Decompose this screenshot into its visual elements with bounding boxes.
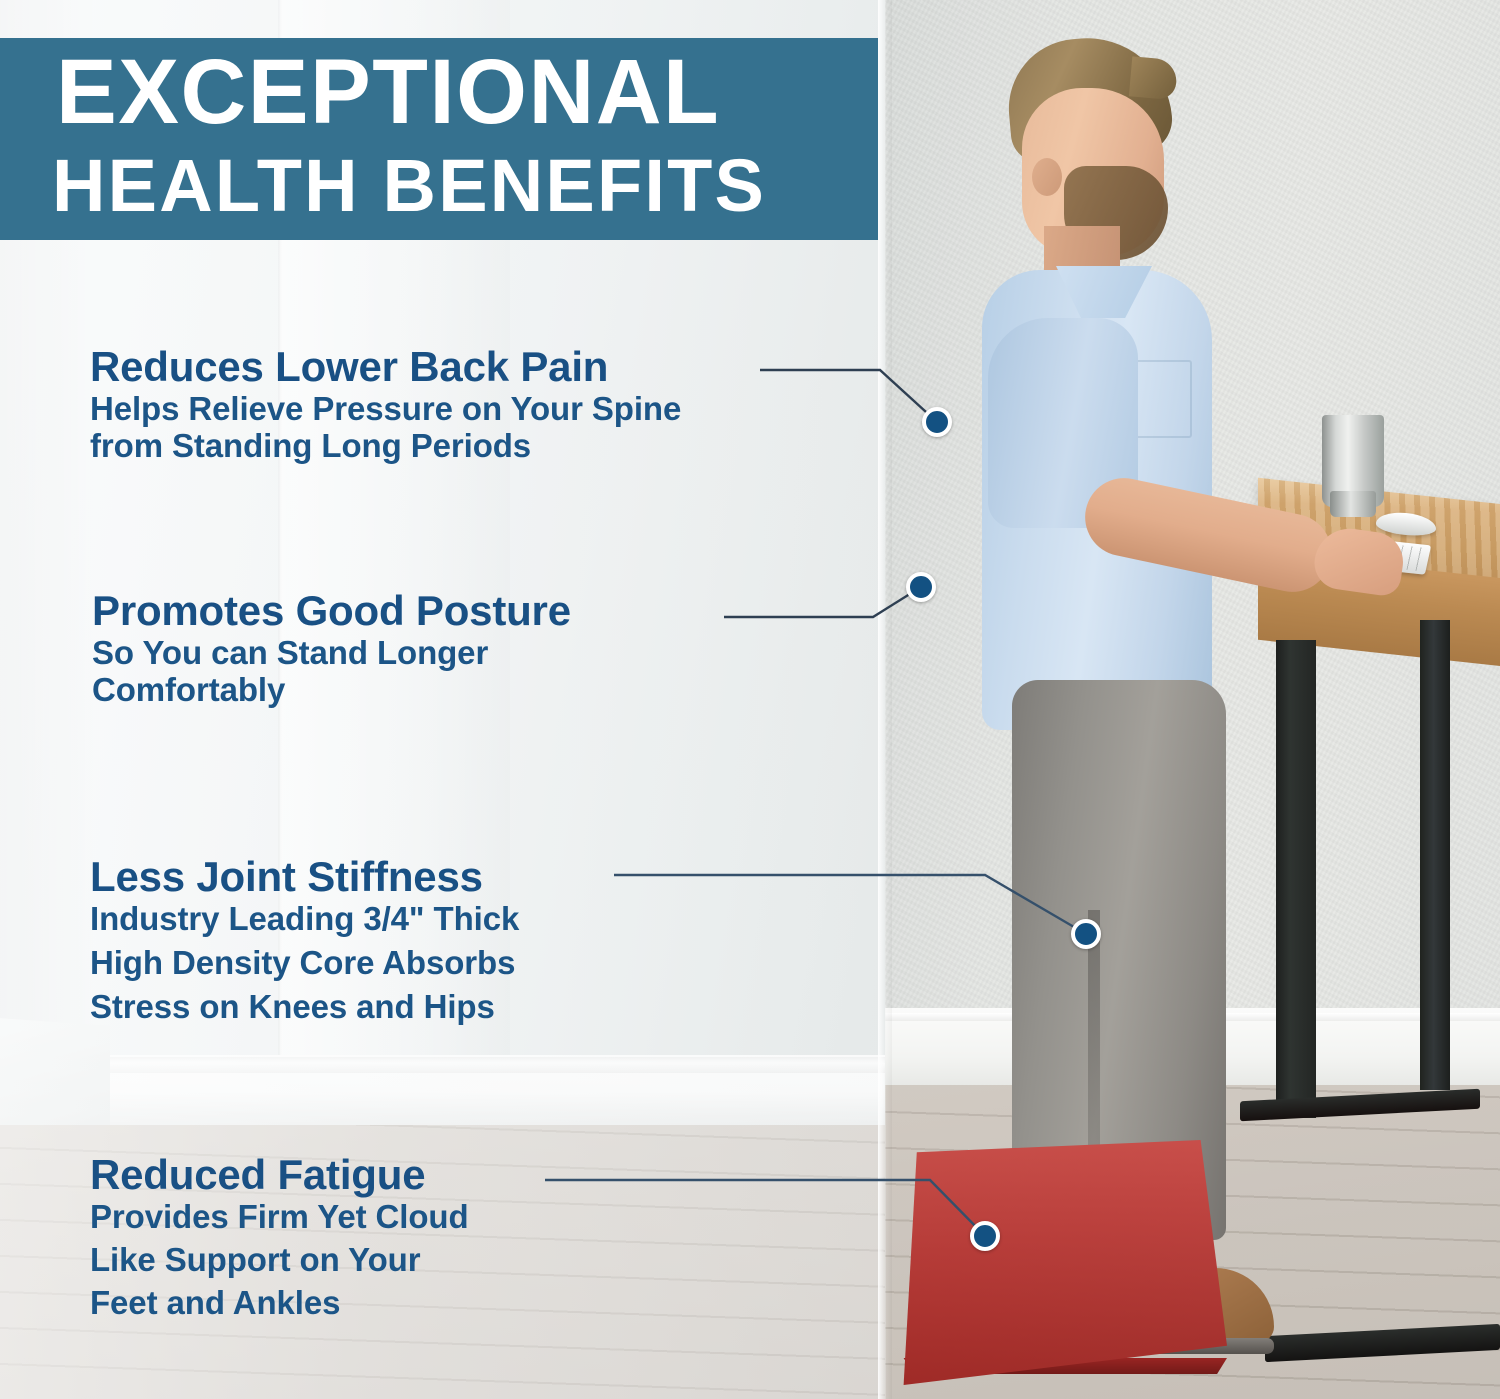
benefit-promotes-good-posture: Promotes Good Posture So You can Stand L… [92,588,571,708]
benefit-body-line: Industry Leading 3/4" Thick [90,900,519,937]
benefit-body-line: So You can Stand Longer [92,634,571,671]
ear [1032,158,1062,196]
header-banner: EXCEPTIONAL HEALTH BENEFITS [0,38,878,240]
benefit-body-line: Provides Firm Yet Cloud [90,1198,469,1235]
benefit-body: So You can Stand Longer Comfortably [92,634,571,708]
banner-title-line1: EXCEPTIONAL [56,44,858,140]
benefit-body-line: Helps Relieve Pressure on Your Spine [90,390,681,427]
banner-title-line2: HEALTH BENEFITS [52,146,862,226]
benefit-body-line: Comfortably [92,671,571,708]
marker-lower-back-dot [922,407,952,437]
stainless-tumbler [1322,415,1384,507]
benefit-reduces-lower-back-pain: Reduces Lower Back Pain Helps Relieve Pr… [90,344,681,464]
panel-seam [878,0,892,1399]
marker-mat-dot [970,1221,1000,1251]
benefit-less-joint-stiffness: Less Joint Stiffness Industry Leading 3/… [90,854,519,1032]
anti-fatigue-mat [897,1140,1227,1385]
benefit-heading: Less Joint Stiffness [90,854,519,900]
infographic-canvas: EXCEPTIONAL HEALTH BENEFITS Reduces Lowe… [0,0,1500,1399]
marker-knee-dot [1071,919,1101,949]
benefit-heading: Reduces Lower Back Pain [90,344,681,390]
benefit-body-line: High Density Core Absorbs [90,944,519,981]
marker-posture-dot [906,572,936,602]
benefit-body: Industry Leading 3/4" Thick High Density… [90,900,519,1025]
benefit-body-line: from Standing Long Periods [90,427,681,464]
benefit-body: Helps Relieve Pressure on Your Spine fro… [90,390,681,464]
benefit-reduced-fatigue: Reduced Fatigue Provides Firm Yet Cloud … [90,1152,469,1327]
benefit-body-line: Feet and Ankles [90,1284,469,1321]
benefit-heading: Promotes Good Posture [92,588,571,634]
benefit-heading: Reduced Fatigue [90,1152,469,1198]
desk-leg-rear [1420,620,1450,1090]
benefit-body-line: Like Support on Your [90,1241,469,1278]
benefit-body-line: Stress on Knees and Hips [90,988,519,1025]
benefit-body: Provides Firm Yet Cloud Like Support on … [90,1198,469,1321]
